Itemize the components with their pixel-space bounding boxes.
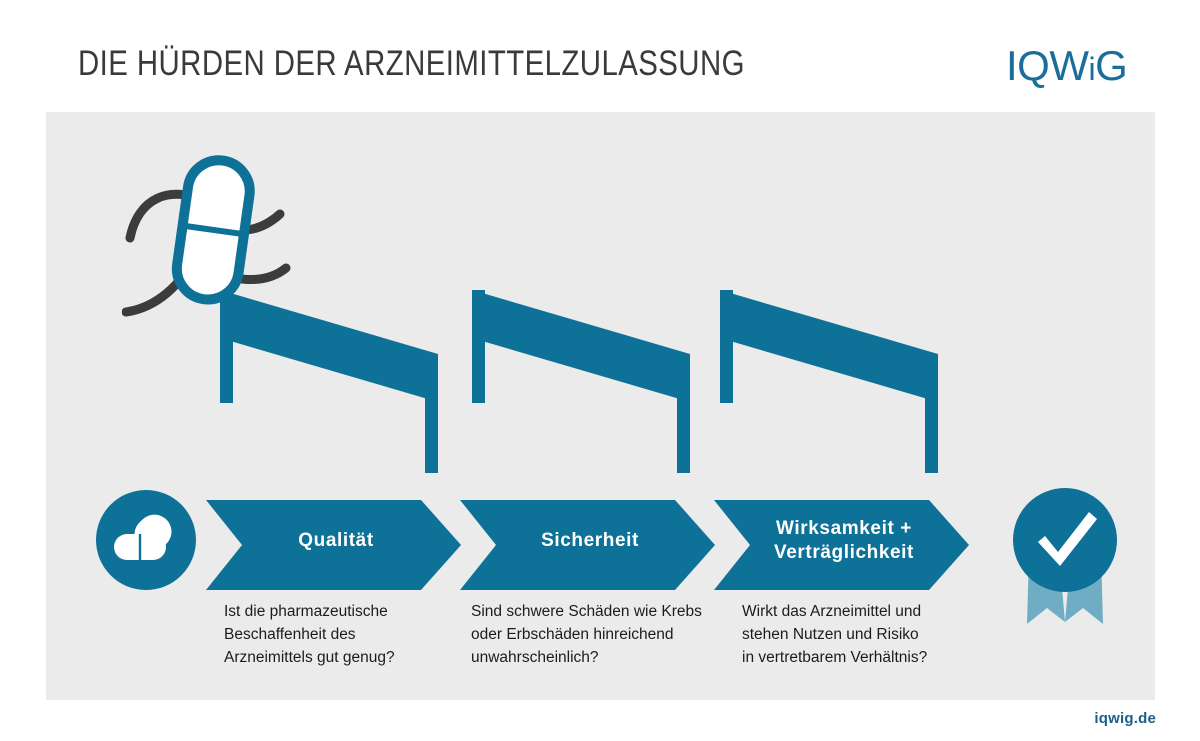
iqwig-logo: IQWiG bbox=[1006, 40, 1156, 92]
infographic-page: DIE HÜRDEN DER ARZNEIMITTELZULASSUNG IQW… bbox=[0, 0, 1200, 741]
stage-caption-qualitaet: Ist die pharmazeutische Beschaffenheit d… bbox=[224, 600, 464, 669]
pills-icon bbox=[96, 490, 196, 590]
stage-label-sicherheit: Sicherheit bbox=[465, 529, 715, 553]
footer-website-url[interactable]: iqwig.de bbox=[1094, 710, 1156, 727]
page-title: DIE HÜRDEN DER ARZNEIMITTELZULASSUNG bbox=[78, 44, 745, 84]
stage-row: Qualität Sicherheit Wirksamkeit + Verträ… bbox=[46, 112, 1155, 700]
svg-text:IQWiG: IQWiG bbox=[1006, 42, 1127, 89]
award-check-rosette-icon bbox=[1005, 482, 1125, 630]
stage-caption-wirksamkeit: Wirkt das Arzneimittel und stehen Nutzen… bbox=[742, 600, 992, 669]
stage-label-qualitaet: Qualität bbox=[211, 529, 461, 553]
stage-caption-sicherheit: Sind schwere Schäden wie Krebs oder Erbs… bbox=[471, 600, 721, 669]
stage-label-wirksamkeit: Wirksamkeit + Verträglichkeit bbox=[719, 517, 969, 565]
